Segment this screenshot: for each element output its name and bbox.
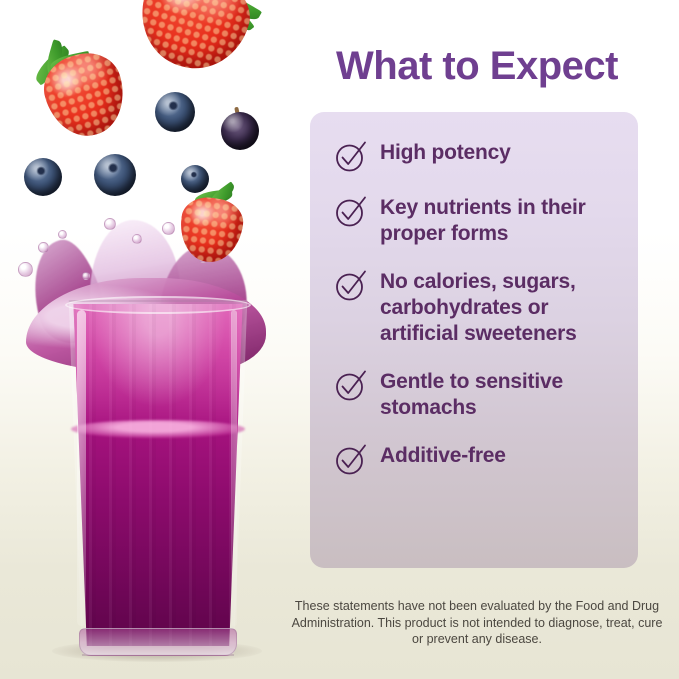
benefits-card: High potency Key nutrients in their prop… (310, 112, 638, 568)
check-circle-icon (334, 442, 368, 476)
benefit-item: No calories, sugars, carbohydrates or ar… (334, 267, 618, 347)
strawberry-icon (176, 194, 246, 266)
check-circle-icon (334, 368, 368, 402)
blueberry-icon (94, 154, 136, 196)
blueberry-body (94, 154, 136, 196)
blueberry-body (181, 165, 209, 193)
glass-highlight (231, 310, 237, 626)
blueberry-icon (181, 165, 209, 193)
benefit-label: Gentle to sensitive stomachs (380, 367, 618, 421)
droplet (58, 230, 67, 239)
grape-icon (221, 112, 259, 150)
blueberry-icon (155, 92, 195, 132)
check-circle-icon (334, 194, 368, 228)
strawberry-body (176, 194, 246, 266)
strawberry-icon (129, 0, 259, 81)
grape-body (221, 112, 259, 150)
benefit-item: Key nutrients in their proper forms (334, 193, 618, 247)
product-image (0, 0, 300, 679)
droplet (38, 242, 49, 253)
drink-glass (63, 300, 253, 656)
check-circle-icon (334, 139, 368, 173)
strawberry-icon (36, 45, 134, 145)
benefit-label: Additive-free (380, 441, 506, 469)
benefit-item: High potency (334, 138, 618, 173)
blueberry-icon (24, 158, 62, 196)
blueberry-body (155, 92, 195, 132)
juice-fill (69, 304, 247, 646)
droplet (18, 262, 33, 277)
benefit-item: Gentle to sensitive stomachs (334, 367, 618, 421)
droplet (104, 218, 116, 230)
glass-highlight (77, 310, 86, 626)
glass-base (79, 628, 237, 656)
droplet (162, 222, 175, 235)
droplet (82, 272, 90, 280)
page-title: What to Expect (310, 42, 644, 90)
fda-disclaimer: These statements have not been evaluated… (288, 598, 666, 648)
juice-surface (71, 420, 245, 438)
benefit-label: No calories, sugars, carbohydrates or ar… (380, 267, 618, 347)
droplet (132, 234, 142, 244)
blueberry-body (24, 158, 62, 196)
benefit-label: High potency (380, 138, 511, 166)
glass-rim (65, 296, 251, 314)
product-infographic: What to Expect High potency Key nutrient… (0, 0, 679, 679)
check-circle-icon (334, 268, 368, 302)
strawberry-body (129, 0, 259, 81)
benefit-item: Additive-free (334, 441, 618, 476)
benefit-label: Key nutrients in their proper forms (380, 193, 618, 247)
